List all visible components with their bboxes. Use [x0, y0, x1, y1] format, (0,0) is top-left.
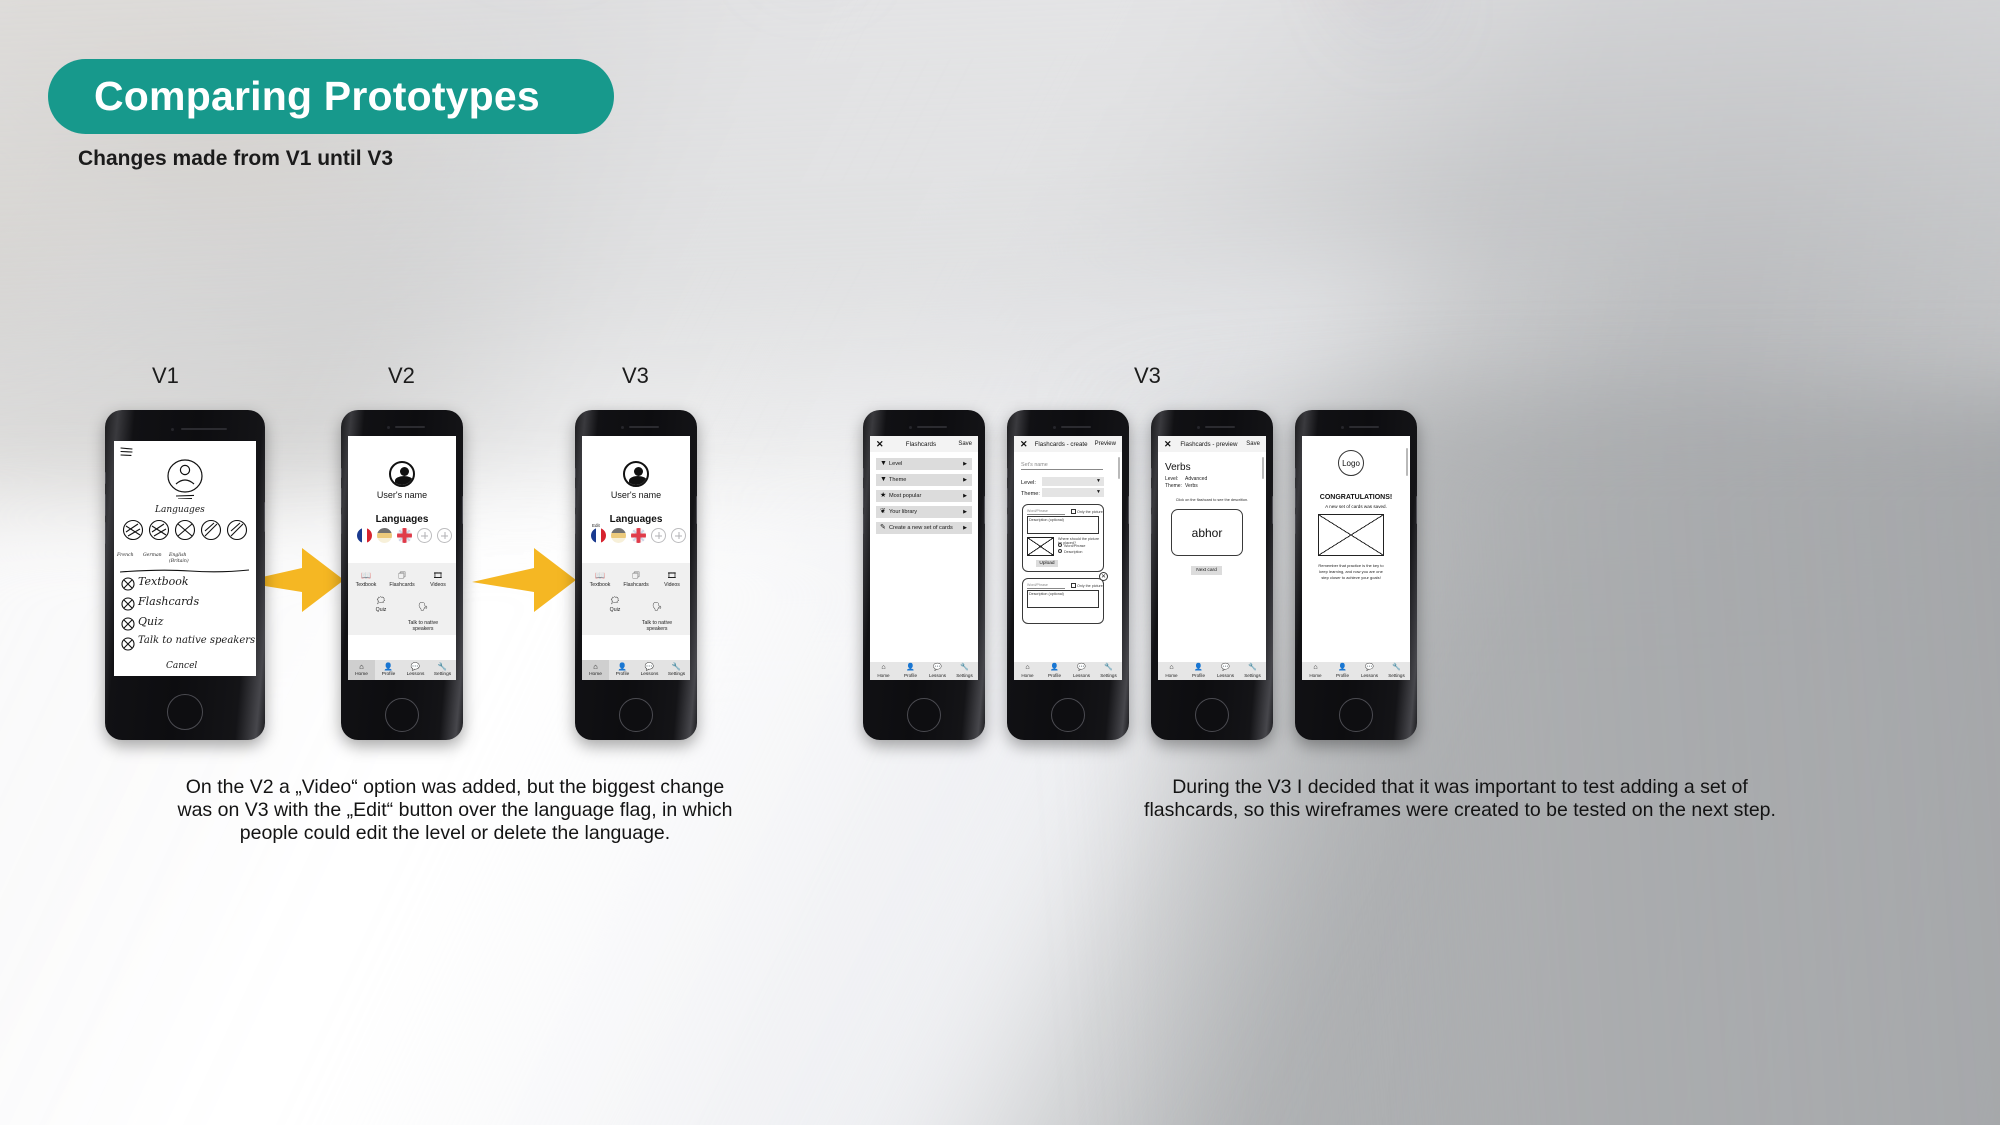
scrollbar[interactable] [1118, 457, 1120, 479]
delete-card-button-2[interactable]: ✕ [1099, 572, 1108, 581]
success-body-line-0: Remember that practice is the key to [1316, 563, 1386, 569]
speak-icon: 🗣 [402, 603, 444, 611]
v3-bottom-nav: ⌂Home 👤Profile 💬Lessons 🔧Settings [582, 660, 690, 681]
chevron-right-icon: ▶ [963, 493, 967, 499]
save-button[interactable]: Save [958, 441, 972, 447]
level-value: Advanced [1185, 476, 1207, 482]
theme-select[interactable]: ▼ [1042, 488, 1104, 497]
picture-placeholder-1[interactable] [1027, 537, 1054, 556]
menu-item-flashcards[interactable]: 🗇 Flashcards [618, 572, 654, 589]
v2-menu-row-1: 📖 Textbook 🗇 Flashcards 🎞 Videos [348, 572, 456, 589]
wire-create-topbar: ✕ Flashcards - create Preview [1014, 436, 1122, 452]
nav-profile[interactable]: 👤Profile [375, 660, 402, 681]
version-label-v2: V2 [388, 363, 415, 389]
phone-v3: User's name Languages Edit 📖 [575, 410, 697, 740]
word-phrase-input-2[interactable]: Word/Phrase [1027, 583, 1065, 589]
divider-sketch [120, 569, 250, 573]
nav-settings[interactable]: 🔧Settings [1239, 664, 1266, 678]
list-item-level[interactable]: ▼ Level ▶ [876, 458, 972, 470]
nav-lessons[interactable]: 💬Lessons [1356, 664, 1383, 678]
v3-avatar [623, 461, 649, 487]
list-item-label: Create a new set of cards [889, 525, 953, 531]
lessons-icon: 💬 [924, 664, 951, 671]
menu-label: Flashcards [389, 582, 414, 588]
theme-label: Theme: [1165, 483, 1182, 489]
home-icon: ⌂ [1302, 664, 1329, 671]
german-flag[interactable] [377, 528, 392, 543]
version-label-v3-right: V3 [1134, 363, 1161, 389]
success-body-line-2: step closer to achieve your goals! [1316, 575, 1386, 581]
set-name-input[interactable]: Set's name [1021, 462, 1103, 470]
v1-option-bullet-1 [121, 597, 135, 611]
menu-item-videos[interactable]: 🎞 Videos [420, 572, 456, 589]
theme-label: Theme: [1021, 491, 1040, 497]
settings-icon: 🔧 [1239, 664, 1266, 671]
menu-label: Talk to native speakers [642, 620, 672, 633]
filter-icon: ▼ [880, 460, 889, 467]
add-language-button-2[interactable] [437, 528, 452, 543]
caption-left-line-2: people could edit the level or delete th… [105, 822, 805, 845]
level-select[interactable]: ▼ [1042, 477, 1104, 486]
v2-flag-row [357, 528, 452, 543]
wire-flashcards-topbar: ✕ Flashcards Save [870, 436, 978, 452]
v1-sketch-screen: Languages French German English (Bri [114, 441, 256, 676]
word-phrase-input-1[interactable]: Word/Phrase [1027, 509, 1065, 515]
v2-languages-title: Languages [348, 514, 456, 525]
lessons-icon: 💬 [1068, 664, 1095, 671]
home-icon: ⌂ [348, 663, 375, 671]
nav-home[interactable]: ⌂Home [582, 660, 609, 681]
phone-wire-flashcards: ✕ Flashcards Save ▼ Level ▶ ▼ Theme [863, 410, 985, 740]
video-icon: 🎞 [654, 572, 690, 580]
uk-flag[interactable] [397, 528, 412, 543]
v1-flag-row [122, 519, 248, 555]
screen-title: Flashcards - create [1035, 441, 1088, 448]
cards-icon: 🗇 [384, 572, 420, 580]
menu-item-talk[interactable]: 🗣 Talk to native speakers [402, 597, 444, 633]
success-image-placeholder [1318, 514, 1384, 556]
level-label: Level: [1165, 476, 1178, 482]
menu-label: Textbook [356, 582, 377, 588]
nav-profile[interactable]: 👤Profile [897, 664, 924, 678]
nav-profile[interactable]: 👤Profile [1185, 664, 1212, 678]
v1-cancel[interactable]: Cancel [166, 661, 197, 671]
set-title: Verbs [1165, 462, 1191, 473]
v1-option-1: Flashcards [138, 595, 199, 608]
nav-home[interactable]: ⌂Home [1302, 664, 1329, 678]
nav-lessons[interactable]: 💬Lessons [402, 660, 429, 681]
home-icon: ⌂ [870, 664, 897, 671]
menu-label: Quiz [610, 607, 621, 613]
wire-bottom-nav: ⌂Home 👤Profile 💬Lessons 🔧Settings [870, 662, 978, 680]
list-item-label: Theme [889, 477, 906, 483]
v1-flag-label-2: English (Britain) [169, 553, 189, 564]
description-placeholder-1: Description (optional) [1029, 518, 1064, 522]
chevron-right-icon: ▶ [963, 525, 967, 531]
home-icon: ⌂ [1158, 664, 1185, 671]
menu-label: Textbook [590, 582, 611, 588]
wire-preview-topbar: ✕ Flashcards - preview Save [1158, 436, 1266, 452]
settings-icon: 🔧 [429, 663, 456, 671]
caption-right-line-1: flashcards, so this wireframes were crea… [1055, 799, 1865, 822]
edit-icon: ✎ [880, 524, 889, 531]
star-icon: ★ [880, 492, 889, 499]
v3-menu-row-1: 📖 Textbook 🗇 Flashcards 🎞 Videos [582, 572, 690, 589]
profile-icon: 👤 [375, 663, 402, 671]
list-item-theme[interactable]: ▼ Theme ▶ [876, 474, 972, 486]
home-icon: ⌂ [582, 663, 609, 671]
list-item-label: Level [889, 461, 902, 467]
french-flag[interactable] [357, 528, 372, 543]
nav-profile[interactable]: 👤Profile [1329, 664, 1356, 678]
preview-button[interactable]: Preview [1095, 441, 1116, 447]
flashcard[interactable]: abhor [1171, 509, 1243, 556]
v3-menu: 📖 Textbook 🗇 Flashcards 🎞 Videos [582, 563, 690, 635]
quiz-icon: 🗯 [360, 597, 402, 605]
page-subtitle: Changes made from V1 until V3 [78, 147, 393, 171]
scrollbar[interactable] [1262, 457, 1264, 479]
book-icon: 📖 [348, 572, 384, 580]
wire-flashcards-list: ▼ Level ▶ ▼ Theme ▶ ★ Most popular ▶ [876, 458, 972, 538]
avatar-sketch-icon [164, 457, 206, 499]
phone-wire-preview: ✕ Flashcards - preview Save Verbs Level:… [1151, 410, 1273, 740]
list-item-your-library[interactable]: ❦ Your library ▶ [876, 506, 972, 518]
uk-flag[interactable] [631, 528, 646, 543]
v1-option-bullet-0 [121, 577, 135, 591]
preview-hint: Click on the flashcard to see the descri… [1158, 498, 1266, 502]
nav-lessons[interactable]: 💬Lessons [924, 664, 951, 678]
nav-settings[interactable]: 🔧Settings [951, 664, 978, 678]
radio-label-description-1: Description [1064, 550, 1082, 554]
only-picture-checkbox-2[interactable] [1071, 583, 1076, 588]
add-language-button-2[interactable] [671, 528, 686, 543]
caption-right: During the V3 I decided that it was impo… [1055, 776, 1865, 822]
page-title: Comparing Prototypes [94, 76, 540, 117]
profile-icon: 👤 [897, 664, 924, 671]
list-item-label: Most popular [889, 493, 921, 499]
version-label-v1: V1 [152, 363, 179, 389]
phone-wire-create: ✕ Flashcards - create Preview Set's name… [1007, 410, 1129, 740]
v1-option-2: Quiz [138, 615, 163, 628]
arrow-v2-to-v3 [472, 540, 577, 620]
video-icon: 🎞 [420, 572, 456, 580]
profile-icon: 👤 [1185, 664, 1212, 671]
nav-lessons[interactable]: 💬Lessons [1068, 664, 1095, 678]
v1-flag-label-1: German [143, 553, 162, 558]
phone-wire-success: Logo CONGRATULATIONS! A new set of cards… [1295, 410, 1417, 740]
german-flag[interactable] [611, 528, 626, 543]
speak-icon: 🗣 [636, 603, 678, 611]
v2-bottom-nav: ⌂Home 👤Profile 💬Lessons 🔧Settings [348, 660, 456, 681]
v3-flag-row [591, 528, 686, 543]
v1-flag-label-0: French [117, 553, 134, 558]
settings-icon: 🔧 [951, 664, 978, 671]
lessons-icon: 💬 [1212, 664, 1239, 671]
phone-v2: User's name Languages 📖 Textbo [341, 410, 463, 740]
page-title-pill: Comparing Prototypes [48, 59, 614, 134]
menu-item-videos[interactable]: 🎞 Videos [654, 572, 690, 589]
add-language-button-1[interactable] [417, 528, 432, 543]
nav-settings[interactable]: 🔧Settings [429, 660, 456, 681]
v1-option-bullet-2 [121, 617, 135, 631]
only-picture-checkbox-1[interactable] [1071, 509, 1076, 514]
success-headline: CONGRATULATIONS! [1302, 494, 1410, 501]
menu-item-textbook[interactable]: 📖 Textbook [582, 572, 618, 589]
library-icon: ❦ [880, 508, 889, 515]
success-subhead: A new set of cards was saved. [1302, 504, 1410, 509]
caption-left: On the V2 a „Video“ option was added, bu… [105, 776, 805, 844]
menu-label: Talk to native speakers [408, 620, 438, 633]
level-label: Level: [1021, 480, 1036, 486]
caption-right-line-0: During the V3 I decided that it was impo… [1055, 776, 1865, 799]
description-placeholder-2: Description (optional) [1029, 592, 1064, 596]
caption-left-line-1: was on V3 with the „Edit“ button over th… [105, 799, 805, 822]
chevron-right-icon: ▶ [963, 509, 967, 515]
scrollbar[interactable] [1406, 448, 1408, 476]
chevron-right-icon: ▶ [963, 477, 967, 483]
quiz-icon: 🗯 [594, 597, 636, 605]
caption-left-line-0: On the V2 a „Video“ option was added, bu… [105, 776, 805, 799]
v3-username: User's name [582, 490, 690, 500]
v2-avatar [389, 461, 415, 487]
wire-bottom-nav: ⌂Home 👤Profile 💬Lessons 🔧Settings [1158, 662, 1266, 680]
wire-bottom-nav: ⌂Home 👤Profile 💬Lessons 🔧Settings [1014, 662, 1122, 680]
profile-icon: 👤 [1329, 664, 1356, 671]
v1-option-0: Textbook [138, 575, 189, 588]
v2-username: User's name [348, 490, 456, 500]
upload-button-1[interactable]: Upload [1036, 560, 1058, 567]
menu-item-quiz[interactable]: 🗯 Quiz [594, 597, 636, 633]
menu-label: Flashcards [623, 582, 648, 588]
filter-icon: ▼ [880, 476, 889, 483]
menu-item-textbook[interactable]: 📖 Textbook [348, 572, 384, 589]
menu-label: Quiz [376, 607, 387, 613]
nav-lessons[interactable]: 💬Lessons [636, 660, 663, 681]
chevron-right-icon: ▶ [963, 461, 967, 467]
lessons-icon: 💬 [636, 663, 663, 671]
cards-icon: 🗇 [618, 572, 654, 580]
hamburger-icon[interactable] [120, 446, 134, 458]
nav-home[interactable]: ⌂Home [1014, 664, 1041, 678]
home-icon: ⌂ [1014, 664, 1041, 671]
profile-icon: 👤 [609, 663, 636, 671]
radio-description-1[interactable] [1058, 549, 1062, 553]
next-card-button[interactable]: Next card [1191, 566, 1222, 575]
book-icon: 📖 [582, 572, 618, 580]
close-icon[interactable]: ✕ [876, 440, 884, 449]
nav-settings[interactable]: 🔧Settings [1095, 664, 1122, 678]
settings-icon: 🔧 [1095, 664, 1122, 671]
version-label-v3: V3 [622, 363, 649, 389]
menu-item-talk[interactable]: 🗣 Talk to native speakers [636, 597, 678, 633]
v1-languages-title: Languages [155, 505, 205, 515]
chevron-down-icon: ▼ [1096, 489, 1101, 495]
chevron-down-icon: ▼ [1096, 478, 1101, 484]
screen-title: Flashcards - preview [1180, 441, 1237, 448]
radio-word-phrase-1[interactable] [1058, 543, 1062, 547]
add-language-button-1[interactable] [651, 528, 666, 543]
v1-option-bullet-3 [121, 637, 135, 651]
screen-title: Flashcards [906, 441, 936, 448]
v1-option-3: Talk to native speakers [138, 635, 255, 646]
radio-label-word-phrase-1: Word/Phrase [1064, 544, 1085, 548]
only-picture-label-2: Only the picture [1077, 584, 1103, 588]
menu-label: Videos [664, 582, 680, 588]
profile-icon: 👤 [1041, 664, 1068, 671]
phone-v1: Languages French German English (Bri [105, 410, 265, 740]
menu-item-quiz[interactable]: 🗯 Quiz [360, 597, 402, 633]
logo: Logo [1338, 450, 1364, 476]
nav-profile[interactable]: 👤Profile [609, 660, 636, 681]
list-item-most-popular[interactable]: ★ Most popular ▶ [876, 490, 972, 502]
save-button[interactable]: Save [1246, 441, 1260, 447]
theme-value: Verbs [1185, 483, 1198, 489]
only-picture-label-1: Only the picture [1077, 510, 1103, 514]
nav-lessons[interactable]: 💬Lessons [1212, 664, 1239, 678]
settings-icon: 🔧 [1383, 664, 1410, 671]
list-item-label: Your library [889, 509, 917, 515]
list-item-create-set[interactable]: ✎ Create a new set of cards ▶ [876, 522, 972, 534]
nav-profile[interactable]: 👤Profile [1041, 664, 1068, 678]
french-flag[interactable] [591, 528, 606, 543]
menu-label: Videos [430, 582, 446, 588]
nav-home[interactable]: ⌂Home [348, 660, 375, 681]
nav-settings[interactable]: 🔧Settings [663, 660, 690, 681]
lessons-icon: 💬 [1356, 664, 1383, 671]
wire-bottom-nav: ⌂Home 👤Profile 💬Lessons 🔧Settings [1302, 662, 1410, 680]
menu-item-flashcards[interactable]: 🗇 Flashcards [384, 572, 420, 589]
success-body-line-1: keep learning, and now you are one [1316, 569, 1386, 575]
lessons-icon: 💬 [402, 663, 429, 671]
nav-home[interactable]: ⌂Home [1158, 664, 1185, 678]
nav-home[interactable]: ⌂Home [870, 664, 897, 678]
close-icon[interactable]: ✕ [1164, 440, 1172, 449]
nav-settings[interactable]: 🔧Settings [1383, 664, 1410, 678]
close-icon[interactable]: ✕ [1020, 440, 1028, 449]
settings-icon: 🔧 [663, 663, 690, 671]
v2-menu: 📖 Textbook 🗇 Flashcards 🎞 Videos [348, 563, 456, 635]
